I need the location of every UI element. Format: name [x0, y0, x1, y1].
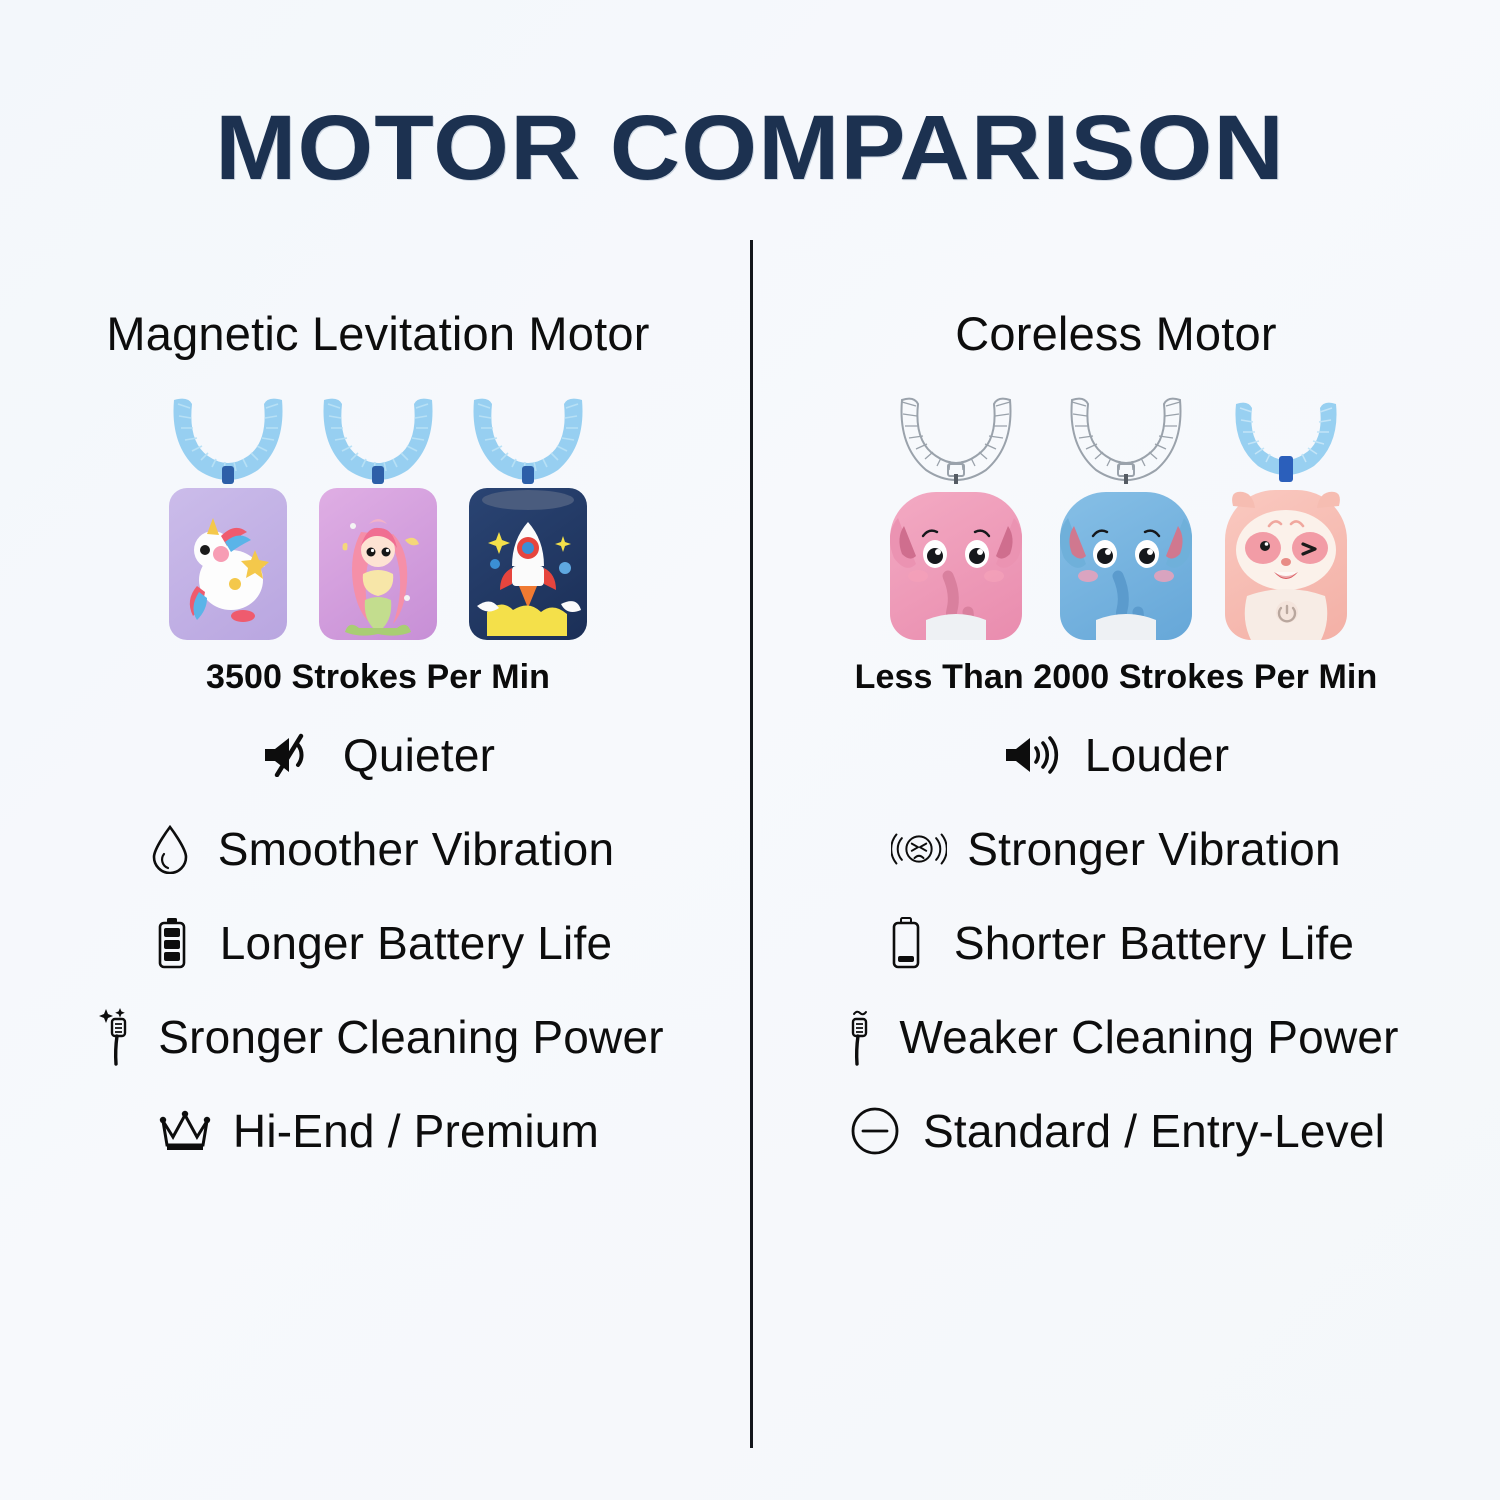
feature-label: Weaker Cleaning Power: [899, 1010, 1398, 1064]
toothbrush-icon: [833, 1009, 889, 1065]
water-drop-icon: [142, 821, 198, 877]
column-coreless: Coreless Motor: [756, 300, 1476, 1163]
rocket-body: [469, 488, 587, 640]
feature-row-quieter: Quieter: [18, 723, 738, 787]
product-images-left: [18, 390, 738, 640]
rocket-toothbrush: [458, 394, 598, 640]
u-shaped-brush-head-icon: [892, 394, 1020, 486]
blue-elephant-toothbrush: [1046, 394, 1206, 640]
rocket-graphic: [469, 488, 587, 640]
battery-full-icon: [144, 915, 200, 971]
page-title: MOTOR COMPARISON: [0, 96, 1500, 201]
feature-label: Hi-End / Premium: [233, 1104, 599, 1158]
mermaid-toothbrush: [308, 394, 448, 640]
crown-icon: [157, 1103, 213, 1159]
column-header-right: Coreless Motor: [756, 300, 1476, 368]
speaker-mute-icon: [261, 727, 317, 783]
pink-elephant-toothbrush: [876, 394, 1036, 640]
column-header-left: Magnetic Levitation Motor: [18, 300, 738, 368]
pink-elephant-body: [890, 492, 1022, 640]
strokes-per-min-right: Less Than 2000 Strokes Per Min: [756, 658, 1476, 697]
pink-elephant-graphic: [890, 492, 1022, 640]
feature-label: Quieter: [343, 728, 495, 782]
battery-low-icon: [878, 915, 934, 971]
shaking-face-icon: [891, 821, 947, 877]
u-shaped-brush-head-icon: [164, 394, 292, 486]
feature-row-stronger-cleaning: Sronger Cleaning Power: [18, 1005, 738, 1069]
pink-panda-graphic: [1225, 490, 1347, 640]
u-shaped-brush-head-icon: [1222, 394, 1350, 486]
strokes-per-min-left: 3500 Strokes Per Min: [18, 658, 738, 697]
product-images-right: [756, 390, 1476, 640]
unicorn-graphic: [169, 488, 287, 640]
feature-label: Stronger Vibration: [967, 822, 1341, 876]
feature-label: Sronger Cleaning Power: [158, 1010, 664, 1064]
u-shaped-brush-head-icon: [464, 394, 592, 486]
column-divider: [750, 240, 753, 1448]
feature-row-standard: Standard / Entry-Level: [756, 1099, 1476, 1163]
speaker-loud-icon: [1003, 727, 1059, 783]
feature-row-louder: Louder: [756, 723, 1476, 787]
feature-label: Standard / Entry-Level: [923, 1104, 1385, 1158]
unicorn-body: [169, 488, 287, 640]
u-shaped-brush-head-icon: [1062, 394, 1190, 486]
feature-label: Shorter Battery Life: [954, 916, 1354, 970]
feature-row-longer-battery: Longer Battery Life: [18, 911, 738, 975]
feature-row-smoother-vibration: Smoother Vibration: [18, 817, 738, 881]
column-magnetic-levitation: Magnetic Levitation Motor: [18, 300, 738, 1163]
feature-row-hi-end: Hi-End / Premium: [18, 1099, 738, 1163]
feature-row-shorter-battery: Shorter Battery Life: [756, 911, 1476, 975]
feature-row-stronger-vibration: Stronger Vibration: [756, 817, 1476, 881]
pink-panda-body: [1225, 490, 1347, 640]
feature-label: Louder: [1085, 728, 1229, 782]
pink-panda-toothbrush: [1216, 394, 1356, 640]
mermaid-graphic: [319, 488, 437, 640]
blue-elephant-body: [1060, 492, 1192, 640]
mermaid-body: [319, 488, 437, 640]
u-shaped-brush-head-icon: [314, 394, 442, 486]
circle-minus-icon: [847, 1103, 903, 1159]
blue-elephant-graphic: [1060, 492, 1192, 640]
feature-label: Smoother Vibration: [218, 822, 615, 876]
feature-row-weaker-cleaning: Weaker Cleaning Power: [756, 1005, 1476, 1069]
unicorn-toothbrush: [158, 394, 298, 640]
infographic-page: MOTOR COMPARISON Magnetic Levitation Mot…: [0, 0, 1500, 1500]
toothbrush-sparkle-icon: [92, 1009, 148, 1065]
feature-label: Longer Battery Life: [220, 916, 613, 970]
